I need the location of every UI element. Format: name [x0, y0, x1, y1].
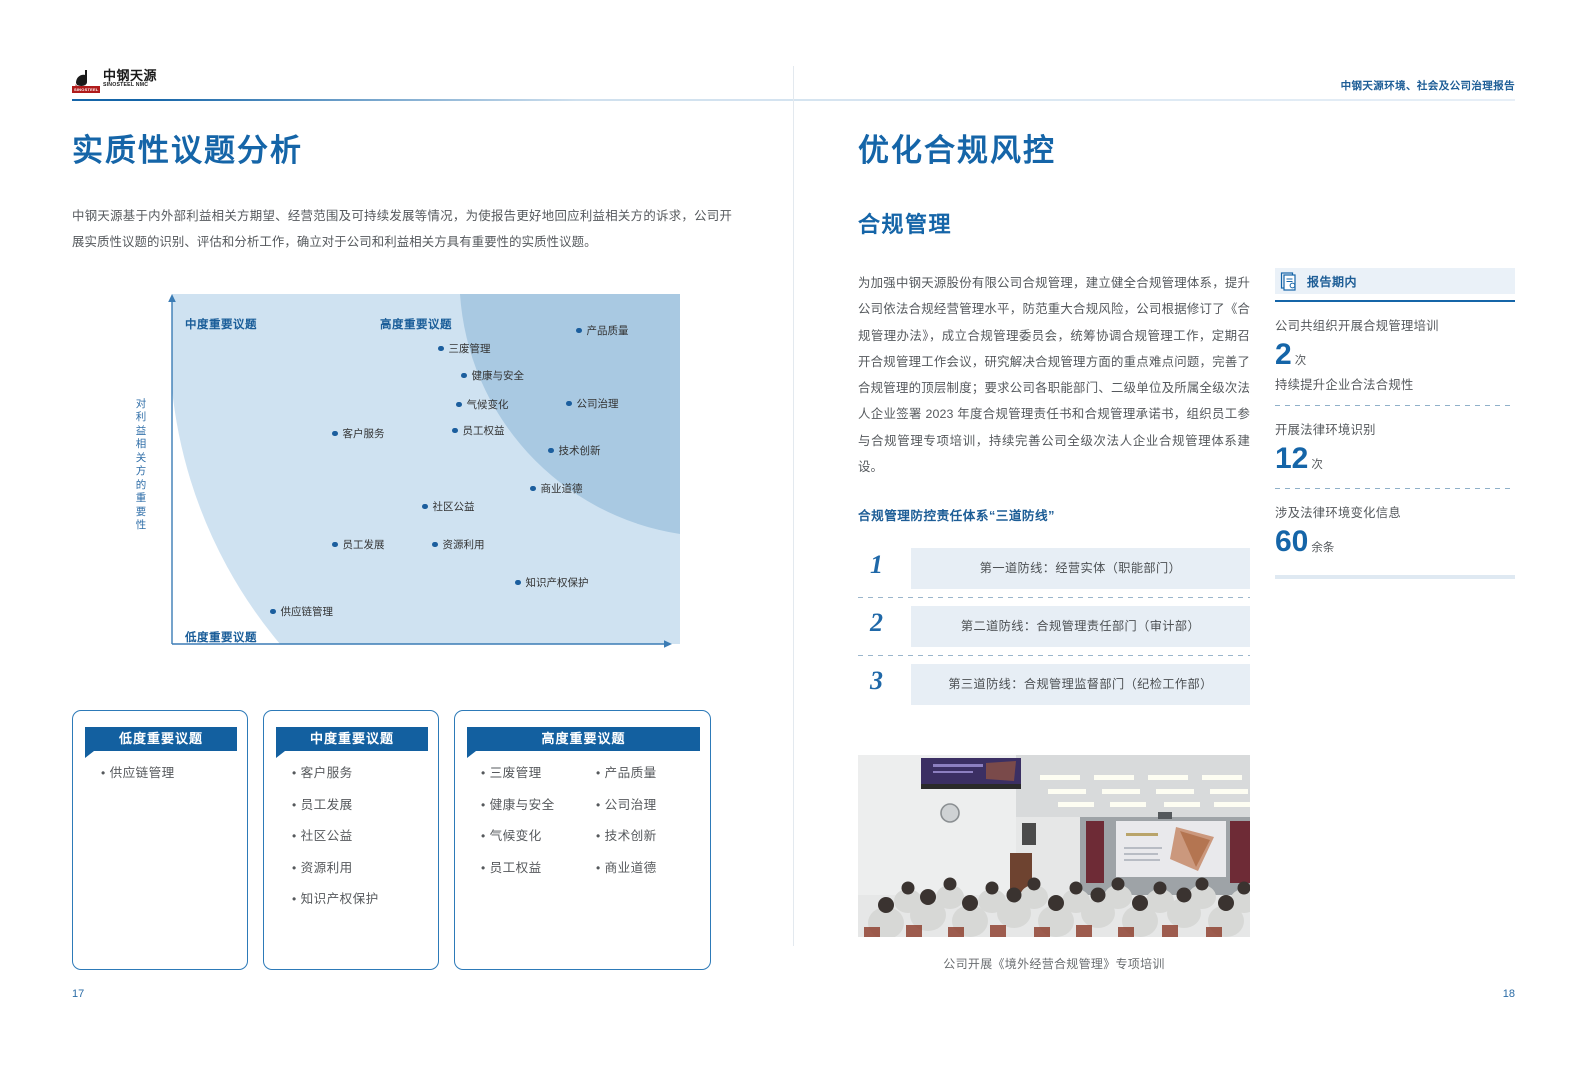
card-item: 三废管理	[481, 767, 586, 780]
stat-entry: 公司共组织开展合规管理培训 2次 持续提升企业合法合规性	[1275, 302, 1515, 406]
defense-line-row: 2 第二道防线：合规管理责任部门（审计部）	[858, 606, 1250, 647]
page-divider	[793, 66, 794, 946]
defense-line-number: 1	[870, 550, 883, 580]
report-title: 中钢天源环境、社会及公司治理报告	[1341, 78, 1515, 93]
card-item: 员工权益	[481, 862, 586, 875]
training-photo	[858, 755, 1250, 937]
body-paragraph: 为加强中钢天源股份有限公司合规管理，建立健全合规管理体系，提升公司依法合规经营管…	[858, 270, 1250, 480]
card-item: 技术创新	[596, 830, 701, 843]
stats-panel: 报告期内 公司共组织开展合规管理培训 2次 持续提升企业合法合规性 开展法律环境…	[1275, 268, 1515, 579]
data-point-zhishichanquanbaohu: 知识产权保护	[515, 575, 589, 590]
stats-footer-bar	[1275, 575, 1515, 579]
page-number-left: 17	[72, 988, 84, 1000]
card-item: 供应链管理	[101, 767, 233, 780]
stat-label: 涉及法律环境变化信息	[1275, 503, 1515, 521]
card-high-importance: 高度重要议题 三废管理 健康与安全 气候变化 员工权益 产品质量 公司治理 技术…	[454, 710, 711, 970]
data-point-shangyedaode: 商业道德	[530, 481, 583, 496]
data-point-jishuchuangxin: 技术创新	[548, 443, 601, 458]
defense-line-row: 1 第一道防线：经营实体（职能部门）	[858, 548, 1250, 589]
stat-entry: 开展法律环境识别 12次	[1275, 406, 1515, 489]
data-point-gongyinglianguanli: 供应链管理	[270, 604, 333, 619]
card-item: 公司治理	[596, 799, 701, 812]
card-item: 知识产权保护	[292, 893, 424, 906]
dashed-separator	[858, 655, 1250, 656]
data-point-kehufuwu: 客户服务	[332, 426, 385, 441]
defense-line-number: 2	[870, 608, 883, 638]
page-title-right: 优化合规风控	[858, 125, 1056, 170]
report-spread: SINOSTEEL 中钢天源 SINOSTEEL NMC 中钢天源环境、社会及公…	[0, 0, 1587, 1077]
data-point-yuangongquanyi: 员工权益	[452, 423, 505, 438]
data-point-chanpinzhiliang: 产品质量	[576, 323, 629, 338]
data-point-shequgongyi: 社区公益	[422, 499, 475, 514]
data-point-jiankangyuanquan: 健康与安全	[461, 368, 524, 383]
defense-line-text: 第一道防线：经营实体（职能部门）	[911, 548, 1250, 589]
logo-text-cn: 中钢天源	[103, 69, 157, 82]
stat-value: 2次	[1275, 338, 1515, 372]
card-item: 员工发展	[292, 799, 424, 812]
quadrant-label-high: 高度重要议题	[380, 316, 452, 332]
card-item: 商业道德	[596, 862, 701, 875]
data-point-yuangongfazhan: 员工发展	[332, 537, 385, 552]
stat-number: 60	[1275, 525, 1308, 558]
stat-unit: 次	[1311, 459, 1323, 471]
defense-line-text: 第三道防线：合规管理监督部门（纪检工作部）	[911, 664, 1250, 705]
intro-paragraph: 中钢天源基于内外部利益相关方期望、经营范围及可持续发展等情况，为使报告更好地回应…	[72, 203, 732, 256]
card-item: 客户服务	[292, 767, 424, 780]
matrix-svg	[160, 294, 680, 666]
defense-line-row: 3 第三道防线：合规管理监督部门（纪检工作部）	[858, 664, 1250, 705]
data-point-ziyuanliyong: 资源利用	[432, 537, 485, 552]
materiality-matrix-chart: 对利益相关方的重要性 中度重要议题 高度重要议题 低度重要议题 产品质量 三废管…	[160, 294, 680, 666]
stat-entry: 涉及法律环境变化信息 60余条	[1275, 489, 1515, 579]
dashed-separator	[858, 597, 1250, 598]
stat-number: 12	[1275, 442, 1308, 475]
card-item: 产品质量	[596, 767, 701, 780]
logo-text-en: SINOSTEEL NMC	[103, 83, 157, 88]
page-number-right: 18	[1503, 988, 1515, 1000]
y-axis-label: 对利益相关方的重要性	[133, 398, 149, 532]
stat-value: 60余条	[1275, 525, 1515, 559]
card-item: 社区公益	[292, 830, 424, 843]
stat-unit: 余条	[1311, 542, 1334, 554]
data-point-qihoubianhua: 气候变化	[456, 397, 509, 412]
stat-label: 开展法律环境识别	[1275, 420, 1515, 438]
card-title-high: 高度重要议题	[467, 727, 700, 751]
category-cards: 低度重要议题 供应链管理 中度重要议题 客户服务 员工发展 社区公益 资源利用 …	[72, 710, 711, 970]
stat-label: 公司共组织开展合规管理培训	[1275, 316, 1515, 334]
section-subtitle: 合规管理	[858, 207, 952, 239]
card-item: 健康与安全	[481, 799, 586, 812]
photo-caption: 公司开展《境外经营合规管理》专项培训	[858, 955, 1250, 972]
card-low-importance: 低度重要议题 供应链管理	[72, 710, 248, 970]
stats-header: 报告期内	[1275, 268, 1515, 294]
stat-sub: 持续提升企业合法合规性	[1275, 375, 1515, 393]
card-medium-importance: 中度重要议题 客户服务 员工发展 社区公益 资源利用 知识产权保护	[263, 710, 439, 970]
data-point-gongsizhili: 公司治理	[566, 396, 619, 411]
quadrant-label-low: 低度重要议题	[185, 629, 257, 645]
three-lines-of-defense: 1 第一道防线：经营实体（职能部门） 2 第二道防线：合规管理责任部门（审计部）…	[858, 548, 1250, 722]
stat-unit: 次	[1295, 355, 1307, 367]
sinosteel-logo-icon: SINOSTEEL	[72, 66, 98, 92]
card-item: 资源利用	[292, 862, 424, 875]
defense-heading: 合规管理防控责任体系“三道防线”	[858, 505, 1055, 524]
defense-line-number: 3	[870, 666, 883, 696]
document-certificate-icon	[1279, 271, 1299, 291]
defense-line-text: 第二道防线：合规管理责任部门（审计部）	[911, 606, 1250, 647]
data-point-sanfeiguanli: 三废管理	[438, 341, 491, 356]
card-title-medium: 中度重要议题	[276, 727, 428, 751]
stat-number: 2	[1275, 338, 1292, 371]
card-title-low: 低度重要议题	[85, 727, 237, 751]
page-title-left: 实质性议题分析	[72, 125, 303, 170]
stats-title: 报告期内	[1307, 273, 1357, 290]
stat-value: 12次	[1275, 442, 1515, 476]
card-item: 气候变化	[481, 830, 586, 843]
quadrant-label-medium: 中度重要议题	[185, 316, 257, 332]
logo-badge: SINOSTEEL	[72, 86, 100, 93]
